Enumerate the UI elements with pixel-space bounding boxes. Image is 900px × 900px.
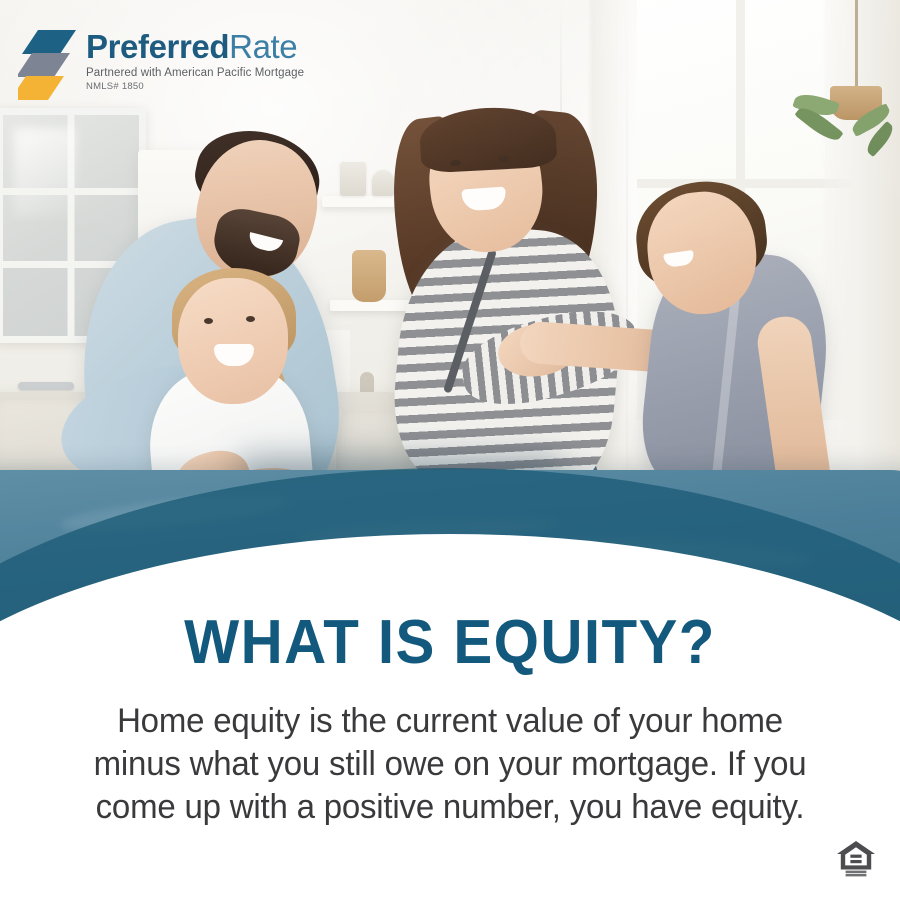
- logo-name: PreferredRate: [86, 30, 304, 65]
- text-content-block: WHAT IS EQUITY? Home equity is the curre…: [0, 612, 900, 828]
- curtain-right: [824, 0, 900, 550]
- girl-eye: [246, 316, 255, 322]
- social-graphic-canvas: PreferredRate Partnered with American Pa…: [0, 0, 900, 900]
- preferred-rate-logo[interactable]: PreferredRate Partnered with American Pa…: [18, 26, 318, 104]
- wooden-vase: [352, 250, 386, 302]
- preferred-rate-mark-icon: [18, 28, 80, 100]
- plant-hanger: [855, 0, 858, 88]
- page-title: WHAT IS EQUITY?: [27, 612, 873, 674]
- faucet-spout: [18, 382, 74, 390]
- shelf-jar: [340, 162, 366, 196]
- girl-head: [178, 278, 288, 404]
- logo-tagline: Partnered with American Pacific Mortgage: [86, 67, 304, 79]
- shelf-jar: [372, 170, 394, 196]
- girl-eye: [204, 318, 213, 324]
- body-paragraph: Home equity is the current value of your…: [76, 700, 825, 828]
- cabinet-glare: [14, 128, 77, 216]
- logo-name-rate: Rate: [229, 28, 297, 65]
- logo-name-preferred: Preferred: [86, 28, 229, 65]
- logo-nmls: NMLS# 1850: [86, 81, 304, 92]
- window-mullion: [637, 179, 852, 188]
- logo-wordmark: PreferredRate Partnered with American Pa…: [86, 30, 304, 92]
- equal-housing-opportunity-icon: [834, 838, 878, 878]
